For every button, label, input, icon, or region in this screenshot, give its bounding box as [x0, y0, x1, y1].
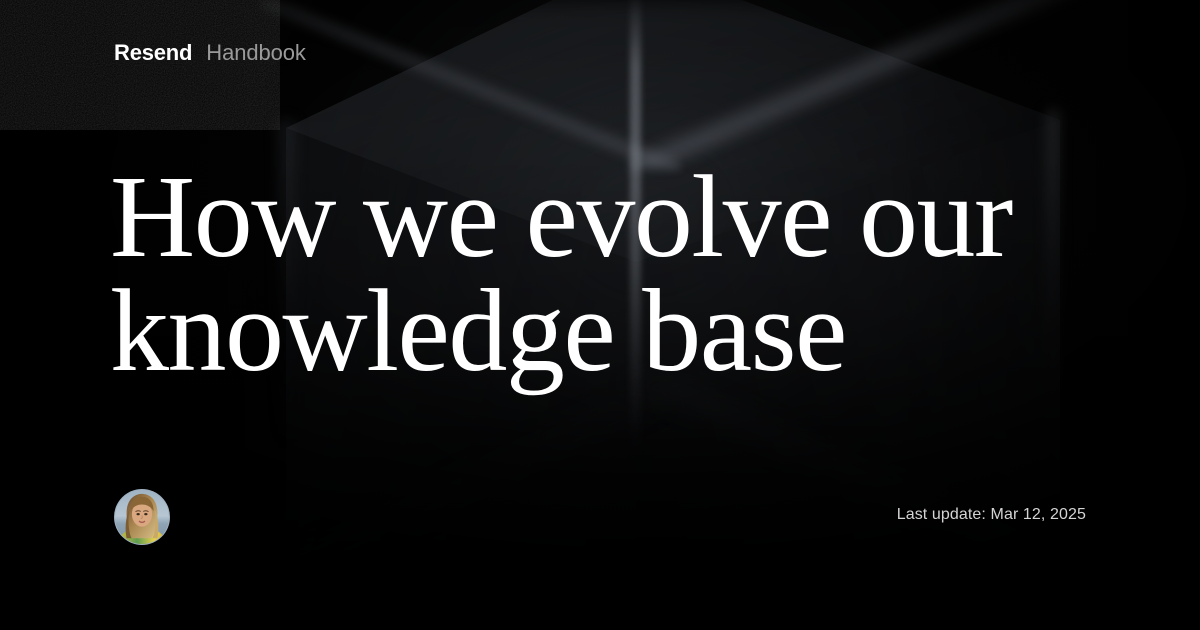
- card-content: Resend Handbook How we evolve our knowle…: [0, 0, 1200, 630]
- breadcrumb: Resend Handbook: [114, 42, 306, 64]
- breadcrumb-section-label[interactable]: Handbook: [206, 42, 306, 64]
- avatar-portrait-icon: [115, 490, 169, 544]
- avatar: [114, 489, 170, 545]
- page-title: How we evolve our knowledge base: [110, 160, 1070, 389]
- brand-logo-text[interactable]: Resend: [114, 42, 192, 64]
- last-update-label: Last update: Mar 12, 2025: [897, 507, 1086, 523]
- og-share-card: Resend Handbook How we evolve our knowle…: [0, 0, 1200, 630]
